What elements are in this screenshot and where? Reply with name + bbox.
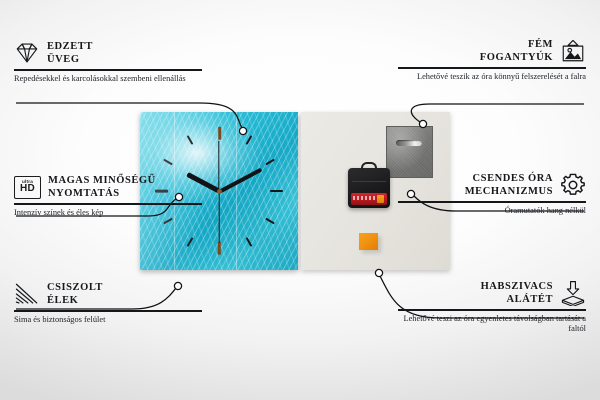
feature-title: CSENDES ÓRA MECHANIZMUS [465, 172, 553, 198]
orange-foam-pad [359, 233, 378, 250]
clock-tick [163, 158, 173, 165]
feature-high-quality-print: ultra HD MAGAS MINŐSÉGŰ NYOMTATÁS Intenz… [14, 174, 202, 218]
feature-tempered-glass: EDZETT ÜVEG Repedésekkel és karcolásokka… [14, 40, 202, 84]
feature-title: HABSZIVACS ALÁTÉT [481, 280, 553, 306]
clock-tick [270, 190, 283, 193]
clock-tick [186, 237, 193, 247]
beveled-edge-icon [14, 281, 40, 307]
feature-description: Repedésekkel és karcolásokkal szembeni e… [14, 74, 202, 85]
ultra-hd-badge-icon: ultra HD [14, 176, 41, 199]
clock-tick [218, 242, 221, 255]
diamond-icon [14, 40, 40, 66]
divider [398, 201, 586, 203]
divider [14, 203, 202, 205]
clock-tick [245, 237, 252, 247]
gear-icon [560, 172, 586, 198]
battery-label-stripes [353, 196, 375, 200]
second-hand-tail [218, 141, 219, 191]
clock-tick [186, 135, 193, 145]
badge-hd-text: HD [20, 184, 35, 194]
divider [14, 310, 202, 312]
mechanism-seam [352, 181, 386, 182]
aa-battery [351, 193, 387, 205]
feature-description: Óramutatók hang nélkül [398, 206, 586, 217]
press-down-pad-icon [560, 280, 586, 306]
feature-description: Intenzív színek és éles kép [14, 208, 202, 219]
divider [14, 69, 202, 71]
feature-title: CSISZOLT ÉLEK [47, 281, 103, 307]
feature-description: Sima és biztonságos felület [14, 315, 202, 326]
feature-polished-edges: CSISZOLT ÉLEK Sima és biztonságos felüle… [14, 281, 202, 325]
minute-hand [218, 167, 262, 193]
feature-metal-handles: FÉM FOGANTYÚK Lehetővé teszik az óra kön… [398, 38, 586, 82]
second-hand [218, 191, 219, 243]
clock-tick [265, 158, 275, 165]
clock-tick [245, 135, 252, 145]
clock-tick [163, 217, 173, 224]
feature-description: Lehetővé teszik az óra könnyű felszerelé… [398, 72, 586, 83]
metal-hanger-plate [386, 126, 433, 178]
feature-description: Lehetővé teszi az óra egyenletes távolsá… [398, 314, 586, 335]
divider [398, 67, 586, 69]
feature-foam-pad: HABSZIVACS ALÁTÉT Lehetővé teszi az óra … [398, 280, 586, 335]
battery-positive-terminal [377, 195, 384, 203]
center-cap [217, 189, 222, 194]
connector-dot-foam [375, 269, 382, 276]
framed-picture-icon [560, 38, 586, 64]
divider [398, 309, 586, 311]
mechanism-hook [361, 162, 377, 171]
feature-silent-mechanism: CSENDES ÓRA MECHANIZMUS Óramutatók hang … [398, 172, 586, 216]
feature-title: MAGAS MINŐSÉGŰ NYOMTATÁS [48, 174, 156, 200]
clock-tick [218, 127, 221, 140]
feature-title: FÉM FOGANTYÚK [480, 38, 553, 64]
feature-title: EDZETT ÜVEG [47, 40, 93, 66]
hanger-keyhole-slot [396, 140, 422, 146]
clock-tick [265, 217, 275, 224]
quartz-clock-mechanism [348, 168, 390, 208]
infographic-canvas: EDZETT ÜVEG Repedésekkel és karcolásokka… [0, 0, 600, 400]
